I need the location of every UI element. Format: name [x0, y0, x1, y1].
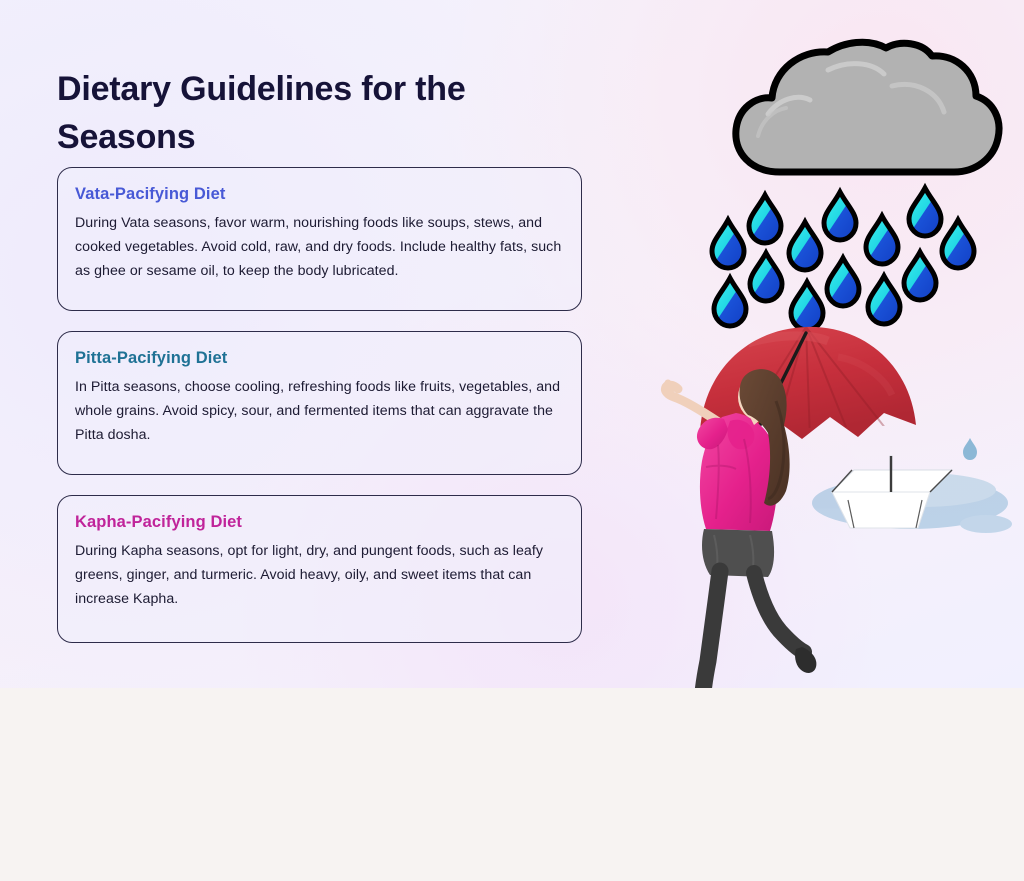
card-body-pitta: In Pitta seasons, choose cooling, refres…: [75, 375, 564, 448]
card-vata-pacifying-diet: Vata-Pacifying Diet During Vata seasons,…: [57, 167, 582, 311]
page-title: Dietary Guidelines for the Seasons: [57, 65, 577, 162]
card-kapha-pacifying-diet: Kapha-Pacifying Diet During Kapha season…: [57, 495, 582, 643]
slide-canvas: Dietary Guidelines for the Seasons Vata-…: [0, 0, 1024, 688]
card-body-vata: During Vata seasons, favor warm, nourish…: [75, 211, 564, 284]
card-title-kapha: Kapha-Pacifying Diet: [75, 512, 564, 533]
card-pitta-pacifying-diet: Pitta-Pacifying Diet In Pitta seasons, c…: [57, 331, 582, 475]
card-title-pitta: Pitta-Pacifying Diet: [75, 348, 564, 369]
card-body-kapha: During Kapha seasons, opt for light, dry…: [75, 539, 564, 612]
small-droplet-icon: [963, 438, 977, 460]
raindrops-icon: [712, 188, 974, 330]
rainy-day-illustration: [600, 20, 1024, 688]
rain-cloud-icon: [736, 42, 999, 172]
card-title-vata: Vata-Pacifying Diet: [75, 184, 564, 205]
bottom-band: [0, 688, 1024, 881]
